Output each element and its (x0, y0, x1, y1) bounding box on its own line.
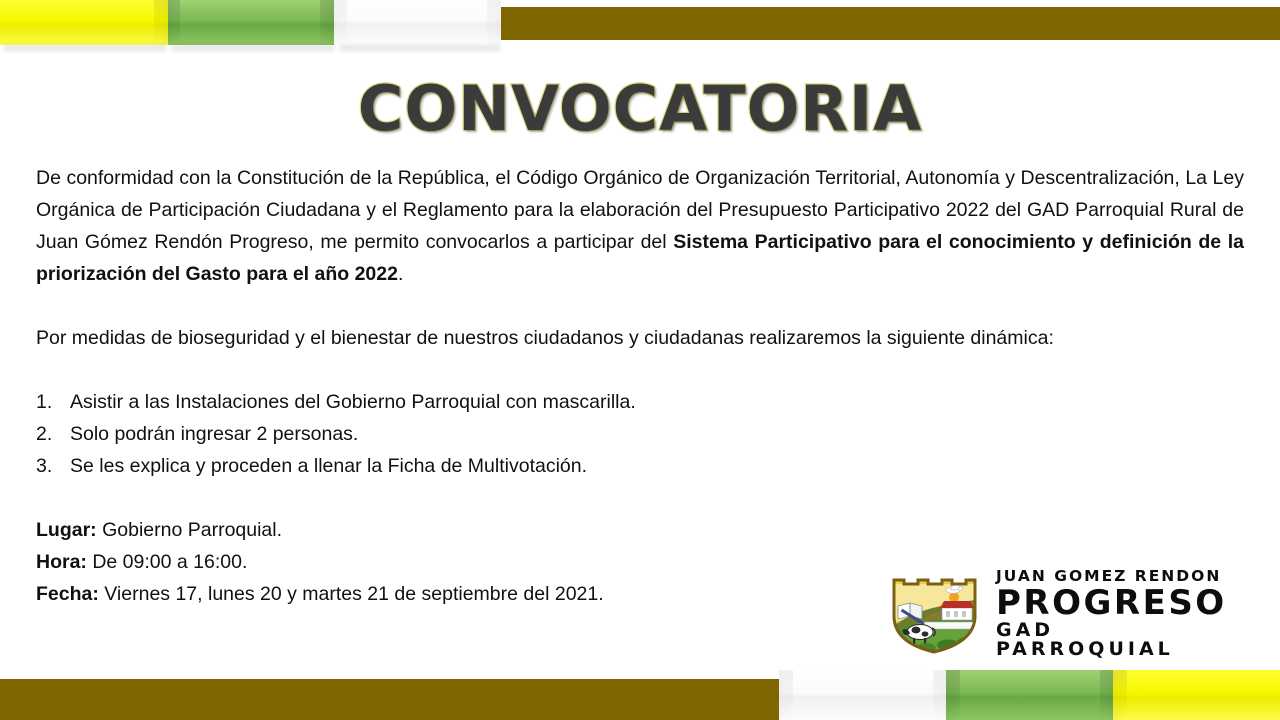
list-item-number: 2. (36, 418, 70, 450)
detail-value-hora: De 09:00 a 16:00. (87, 551, 247, 573)
paragraph-biosecurity: Por medidas de bioseguridad y el bienest… (36, 322, 1244, 354)
list-item-label: Asistir a las Instalaciones del Gobierno… (70, 386, 636, 418)
list-item-label: Se les explica y proceden a llenar la Fi… (70, 450, 587, 482)
logo-wordmark: JUAN GOMEZ RENDON PROGRESO GAD PARROQUIA… (996, 569, 1230, 659)
detail-label-fecha: Fecha: (36, 583, 99, 605)
bevel-left-green-bottom (946, 670, 960, 720)
list-item: 2. Solo podrán ingresar 2 personas. (36, 418, 1244, 450)
bevel-right-white (487, 0, 501, 45)
bottom-bar-segment-green (946, 670, 1114, 720)
organization-logo: JUAN GOMEZ RENDON PROGRESO GAD PARROQUIA… (880, 570, 1230, 658)
top-bar-segment-brown (498, 7, 1280, 40)
top-bar-shadow-yellow (4, 45, 166, 51)
top-bar-segment-green (166, 0, 334, 45)
spacer (36, 354, 1244, 386)
top-decorative-bar (0, 0, 1280, 55)
list-item-number: 1. (36, 386, 70, 418)
detail-row-lugar: Lugar: Gobierno Parroquial. (36, 514, 1244, 546)
spacer (36, 290, 1244, 322)
logo-line-progreso: PROGRESO (996, 586, 1230, 620)
bevel-right-yellow (154, 0, 168, 45)
bevel-right-green (320, 0, 334, 45)
bevel-left-green (166, 0, 180, 45)
bevel-left-white-bottom (779, 670, 793, 720)
logo-line-gad: GAD PARROQUIAL (996, 621, 1230, 659)
top-bar-segment-yellow (0, 0, 168, 45)
list-item-label: Solo podrán ingresar 2 personas. (70, 418, 358, 450)
steps-list: 1. Asistir a las Instalaciones del Gobie… (36, 386, 1244, 482)
bevel-right-white-bottom (933, 670, 947, 720)
bottom-bar-segment-white (779, 670, 947, 720)
top-bar-shadow-green (172, 45, 334, 51)
page-title: CONVOCATORIA (0, 78, 1280, 140)
detail-value-fecha: Viernes 17, lunes 20 y martes 21 de sept… (99, 583, 604, 605)
list-item: 3. Se les explica y proceden a llenar la… (36, 450, 1244, 482)
detail-label-hora: Hora: (36, 551, 87, 573)
list-item-number: 3. (36, 450, 70, 482)
bevel-right-green-bottom (1100, 670, 1114, 720)
coat-of-arms-shield-icon (880, 570, 990, 658)
bottom-bar-segment-brown (0, 679, 786, 720)
detail-label-lugar: Lugar: (36, 519, 97, 541)
list-item: 1. Asistir a las Instalaciones del Gobie… (36, 386, 1244, 418)
paragraph-convocation: De conformidad con la Constitución de la… (36, 162, 1244, 290)
top-bar-shadow-white (340, 45, 500, 51)
detail-value-lugar: Gobierno Parroquial. (97, 519, 282, 541)
top-bar-segment-white (333, 0, 501, 45)
paragraph-convocation-tail: . (398, 263, 403, 285)
bottom-decorative-bar (0, 665, 1280, 720)
bevel-left-white (333, 0, 347, 45)
document-body: De conformidad con la Constitución de la… (36, 162, 1244, 610)
bevel-left-yellow-bottom (1113, 670, 1127, 720)
bottom-bar-segment-yellow (1113, 670, 1280, 720)
